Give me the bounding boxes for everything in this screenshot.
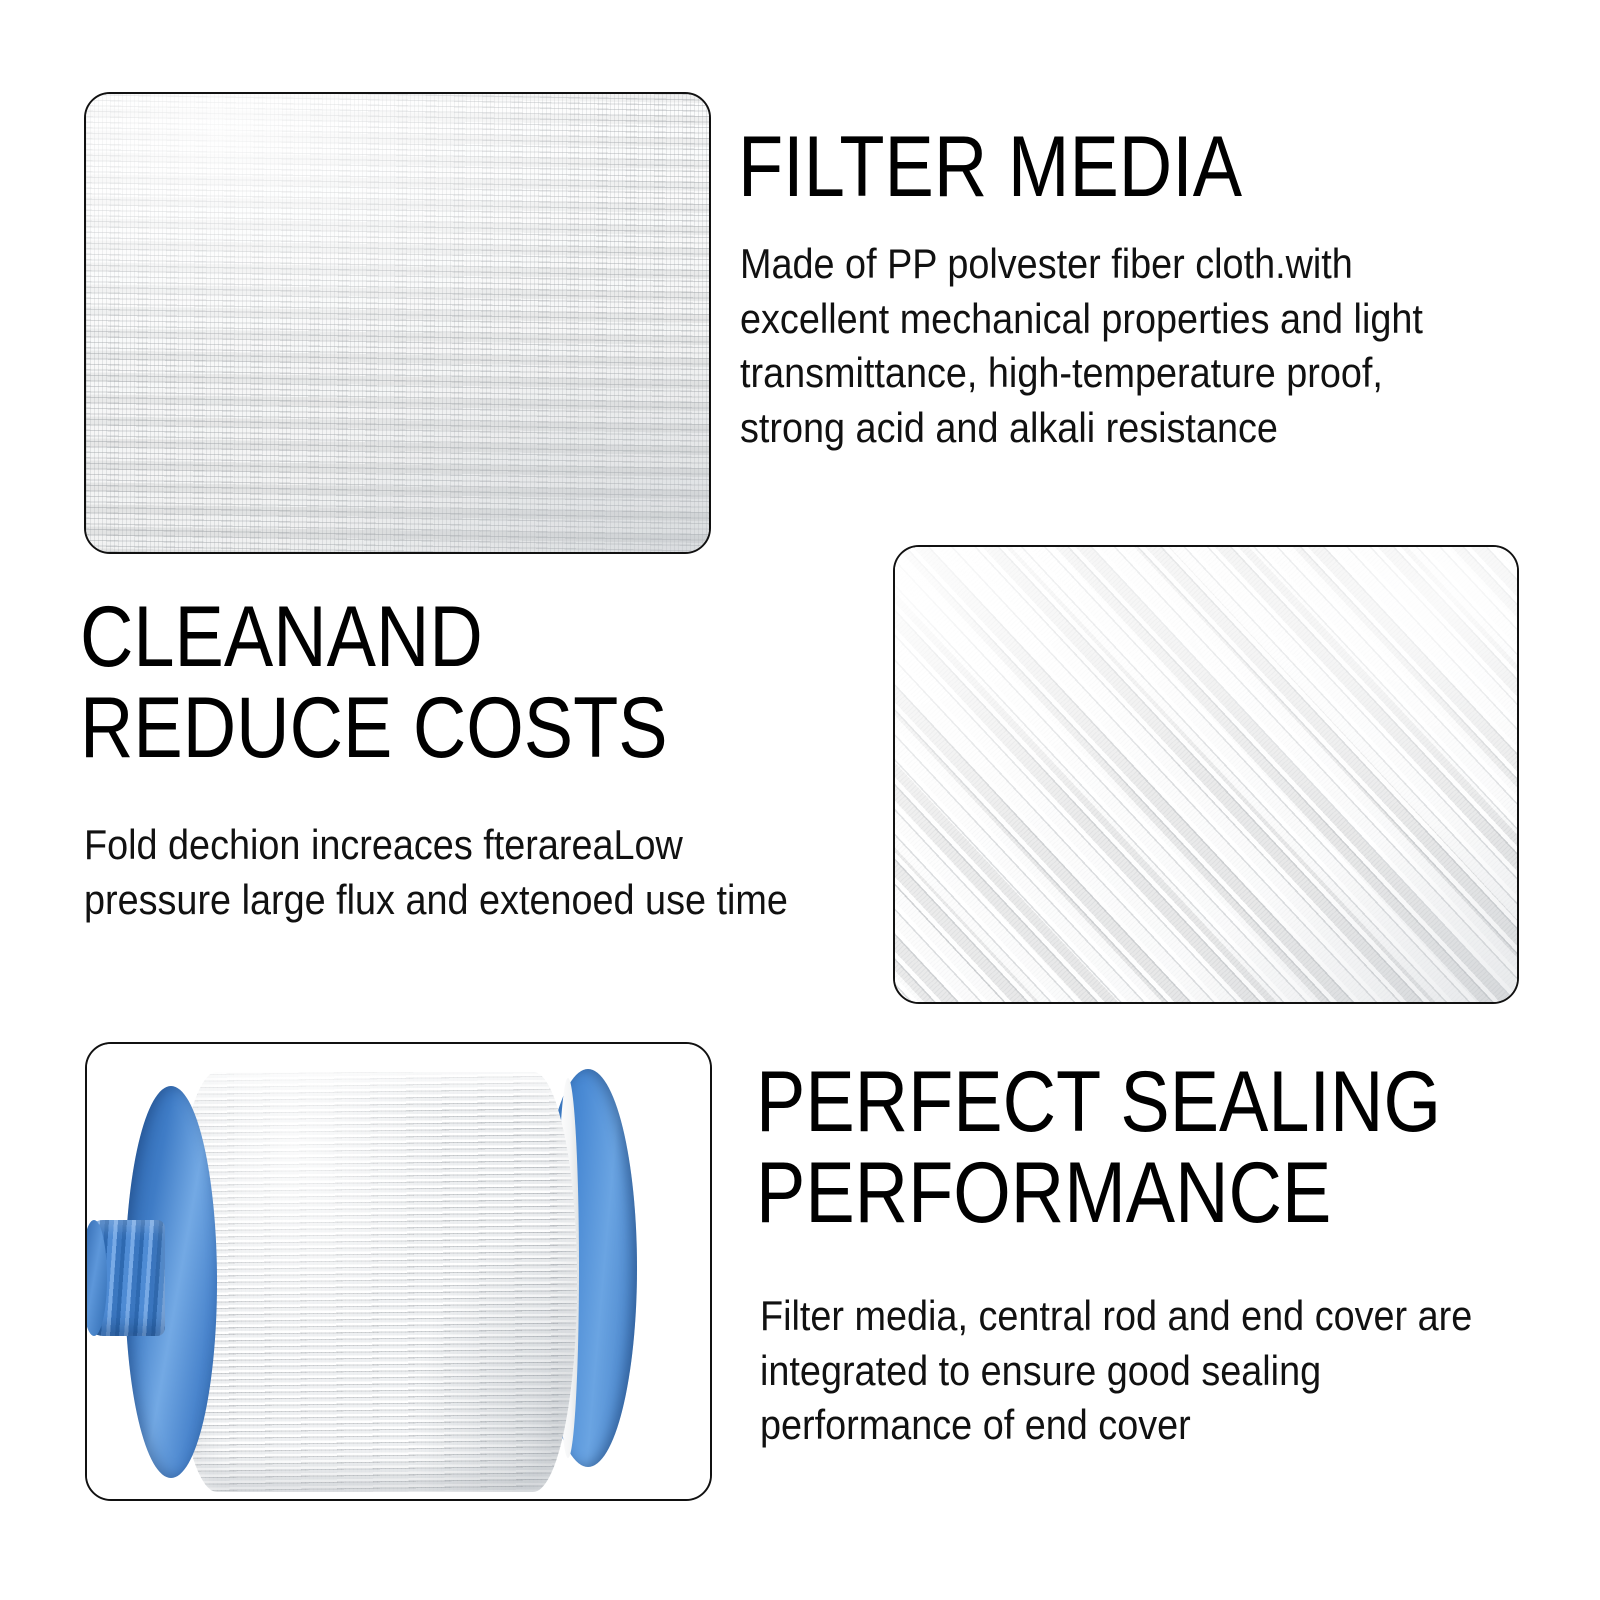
infographic-page: FILTER MEDIA Made of PP polvester fiber …	[0, 0, 1600, 1600]
clean-reduce-costs-description: Fold dechion increaces fterareaLow press…	[84, 818, 822, 927]
filter-cartridge-photo-card	[85, 1042, 712, 1501]
filter-media-title: FILTER MEDIA	[738, 122, 1242, 213]
cartridge-scene	[87, 1044, 710, 1499]
filter-media-photo-card	[84, 92, 711, 554]
pleated-cloth-texture	[893, 545, 1519, 1004]
perfect-sealing-description: Filter media, central rod and end cover …	[760, 1289, 1480, 1453]
perfect-sealing-title: PERFECT SEALING PERFORMANCE	[756, 1057, 1441, 1239]
filter-media-description: Made of PP polvester fiber cloth.with ex…	[740, 237, 1487, 455]
cartridge-pleated-body	[173, 1072, 577, 1492]
clean-reduce-costs-title: CLEANAND REDUCE COSTS	[80, 592, 668, 774]
pleated-cloth-photo-card	[893, 545, 1519, 1004]
woven-cloth-texture	[86, 94, 709, 552]
